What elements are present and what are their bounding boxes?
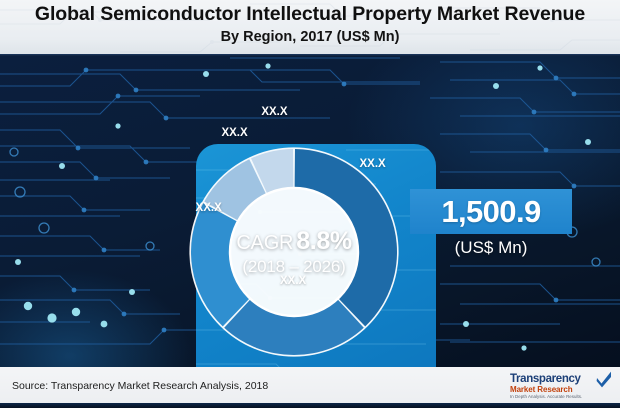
infographic-root: Global Semiconductor Intellectual Proper…	[0, 0, 620, 408]
slice-label-north-america: XX.X	[359, 158, 385, 170]
donut-slice-group	[189, 147, 398, 356]
check-icon	[596, 371, 612, 388]
tmr-logo: Transparency Market Research In Depth An…	[510, 371, 614, 401]
chart-body: XX.XXX.XXX.XXX.XXX.X CAGR 8.8% (2018 – 2…	[0, 56, 620, 367]
page-title: Global Semiconductor Intellectual Proper…	[0, 3, 620, 26]
footer-base-strip	[0, 403, 620, 408]
page-subtitle: By Region, 2017 (US$ Mn)	[0, 29, 620, 45]
donut-svg	[186, 144, 402, 360]
title-band: Global Semiconductor Intellectual Proper…	[0, 0, 620, 56]
donut-chart	[186, 144, 402, 360]
slice-label-middle-east-and-africa: XX.X	[280, 275, 306, 287]
slice-label-asia-pacific: XX.X	[196, 202, 222, 214]
source-note: Source: Transparency Market Research Ana…	[12, 380, 268, 392]
slice-label-europe: XX.X	[221, 127, 247, 139]
total-value-box: 1,500.9	[410, 189, 572, 234]
total-value-unit: (US$ Mn)	[410, 238, 572, 258]
logo-tagline: In Depth Analysis. Accurate Results.	[510, 394, 582, 399]
slice-label-south-america: XX.X	[261, 106, 287, 118]
total-value: 1,500.9	[441, 194, 540, 230]
footer-bar: Source: Transparency Market Research Ana…	[0, 367, 620, 405]
logo-line-transparency: Transparency	[510, 373, 581, 385]
